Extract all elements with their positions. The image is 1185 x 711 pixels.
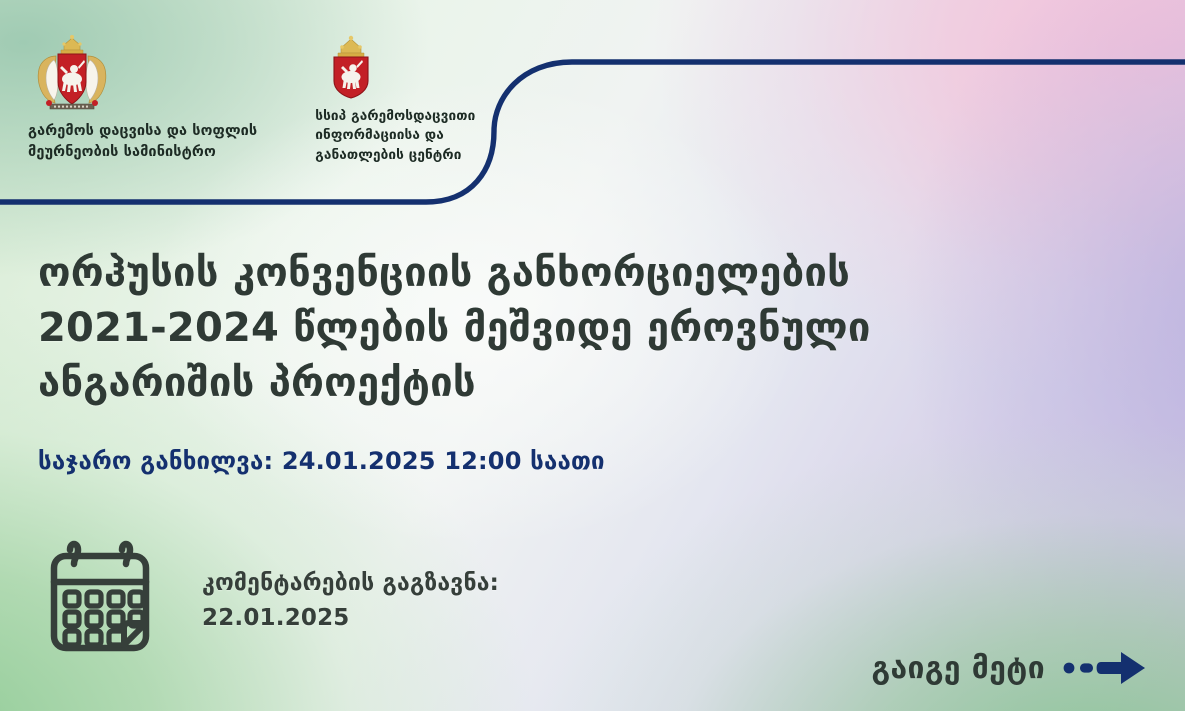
public-hearing-info: საჯარო განხილვა: 24.01.2025 12:00 საათი bbox=[38, 447, 605, 475]
calendar-icon bbox=[30, 528, 170, 668]
logo-eiec: სსიპ გარემოსდაცვითი ინფორმაციისა და განა… bbox=[315, 34, 475, 165]
eiec-crest-icon bbox=[325, 34, 377, 100]
poster-canvas: გარემოს დაცვისა და სოფლის მეურნეობის სამ… bbox=[0, 0, 1185, 711]
dotted-arrow-right-icon[interactable] bbox=[1063, 648, 1151, 688]
comments-deadline-block: კომენტარების გაგზავნა: 22.01.2025 bbox=[30, 528, 499, 668]
georgia-coat-of-arms-icon bbox=[28, 34, 116, 114]
logo-ministry-label: გარემოს დაცვისა და სოფლის მეურნეობის სამ… bbox=[28, 121, 257, 162]
page-title: ორჰუსის კონვენციის განხორციელების 2021-2… bbox=[38, 246, 998, 412]
logo-ministry: გარემოს დაცვისა და სოფლის მეურნეობის სამ… bbox=[28, 34, 257, 162]
learn-more-cta[interactable]: გაიგე მეტი bbox=[871, 648, 1151, 688]
logo-eiec-label: სსიპ გარემოსდაცვითი ინფორმაციისა და განა… bbox=[315, 107, 475, 165]
learn-more-label[interactable]: გაიგე მეტი bbox=[871, 651, 1045, 686]
comments-deadline-label: კომენტარების გაგზავნა: 22.01.2025 bbox=[202, 566, 499, 636]
logo-row: გარემოს დაცვისა და სოფლის მეურნეობის სამ… bbox=[28, 34, 475, 165]
